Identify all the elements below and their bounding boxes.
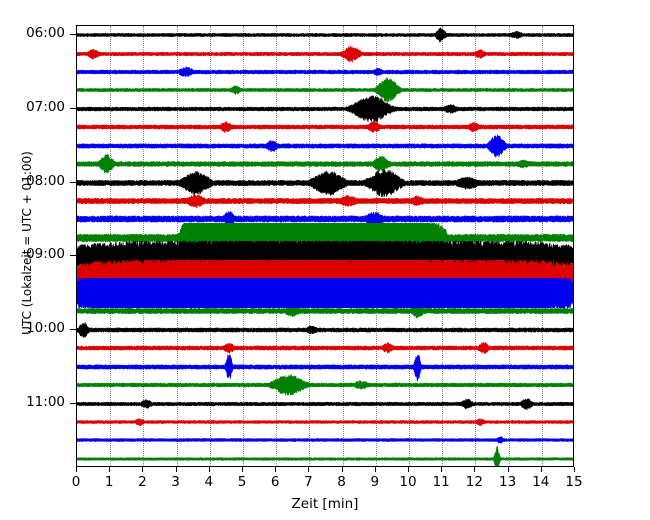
- x-tick-7: [308, 467, 309, 472]
- x-tick-13: [508, 467, 509, 472]
- x-tick-label-6: 6: [271, 474, 280, 490]
- x-tick-label-11: 11: [433, 474, 450, 490]
- x-tick-label-12: 12: [466, 474, 483, 490]
- x-tick-10: [408, 467, 409, 472]
- x-tick-label-1: 1: [105, 474, 114, 490]
- x-tick-4: [209, 467, 210, 472]
- trace-11-45: [77, 444, 573, 467]
- x-tick-5: [242, 467, 243, 472]
- y-tick-label-07-00: 07:00: [0, 99, 65, 115]
- trace-09-30: [77, 278, 573, 308]
- x-tick-label-9: 9: [371, 474, 380, 490]
- y-tick-label-06-00: 06:00: [0, 25, 65, 41]
- x-tick-0: [76, 467, 77, 472]
- y-tick-11-00: [70, 403, 76, 404]
- x-axis-title: Zeit [min]: [76, 496, 574, 512]
- y-tick-09-00: [70, 255, 76, 256]
- y-tick-label-10-00: 10:00: [0, 320, 65, 336]
- x-tick-14: [541, 467, 542, 472]
- x-tick-15: [574, 467, 575, 472]
- x-tick-1: [109, 467, 110, 472]
- x-tick-label-3: 3: [171, 474, 180, 490]
- seismic-traces: [77, 26, 573, 466]
- x-tick-label-10: 10: [399, 474, 416, 490]
- y-tick-07-00: [70, 108, 76, 109]
- x-tick-label-4: 4: [205, 474, 214, 490]
- y-tick-label-09-00: 09:00: [0, 246, 65, 262]
- x-tick-label-14: 14: [532, 474, 549, 490]
- x-tick-6: [275, 467, 276, 472]
- x-tick-label-8: 8: [337, 474, 346, 490]
- seismogram-figure: UTC (Lokalzeit = UTC + 01:00) 06:0007:00…: [0, 0, 650, 520]
- x-tick-label-13: 13: [499, 474, 516, 490]
- x-tick-label-2: 2: [138, 474, 147, 490]
- x-tick-label-7: 7: [304, 474, 313, 490]
- x-tick-label-5: 5: [238, 474, 247, 490]
- y-tick-10-00: [70, 329, 76, 330]
- x-tick-label-15: 15: [565, 474, 582, 490]
- x-tick-9: [375, 467, 376, 472]
- x-tick-12: [474, 467, 475, 472]
- plot-area: [76, 25, 574, 467]
- x-tick-3: [176, 467, 177, 472]
- x-tick-label-0: 0: [72, 474, 81, 490]
- x-tick-8: [342, 467, 343, 472]
- y-tick-label-11-00: 11:00: [0, 394, 65, 410]
- x-tick-2: [142, 467, 143, 472]
- y-tick-08-00: [70, 182, 76, 183]
- y-tick-label-08-00: 08:00: [0, 173, 65, 189]
- y-tick-06-00: [70, 34, 76, 35]
- x-tick-11: [441, 467, 442, 472]
